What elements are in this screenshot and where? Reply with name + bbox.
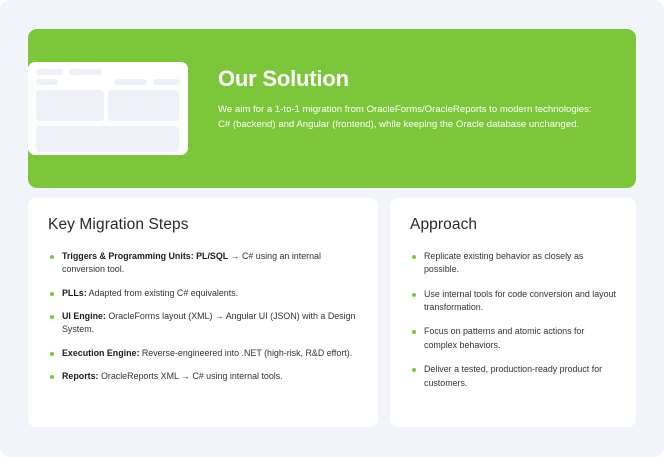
list-item: UI Engine: OracleForms layout (XML) → An… xyxy=(48,310,358,337)
illustration-row-top xyxy=(36,69,180,75)
approach-bullet-list: Replicate existing behavior as closely a… xyxy=(410,250,616,390)
list-item-text: Replicate existing behavior as closely a… xyxy=(424,251,583,274)
list-item-text: OracleForms layout (XML) → Angular UI (J… xyxy=(62,311,355,334)
illustration-bar xyxy=(36,79,58,85)
hero-panel: Our Solution We aim for a 1-to-1 migrati… xyxy=(28,29,636,188)
list-item-label: Reports: xyxy=(62,371,99,381)
illustration-bar xyxy=(114,79,147,85)
list-item: Focus on patterns and atomic actions for… xyxy=(410,325,616,352)
illustration-panel-row-wide xyxy=(36,126,180,152)
list-item-text: OracleReports XML → C# using internal to… xyxy=(99,371,283,381)
wireframe-mockup-illustration xyxy=(28,62,188,155)
steps-bullet-list: Triggers & Programming Units: PL/SQL → C… xyxy=(48,250,358,384)
illustration-row-second xyxy=(36,79,180,85)
approach-card: Approach Replicate existing behavior as … xyxy=(390,198,636,427)
illustration-bar xyxy=(153,79,180,85)
list-item-text: Deliver a tested, production-ready produ… xyxy=(424,364,602,387)
list-item-text: Focus on patterns and atomic actions for… xyxy=(424,326,584,349)
list-item-label: PLLs: xyxy=(62,288,87,298)
list-item: Deliver a tested, production-ready produ… xyxy=(410,363,616,390)
illustration-block xyxy=(36,90,104,121)
page-title: Our Solution xyxy=(218,67,618,91)
list-item: Reports: OracleReports XML → C# using in… xyxy=(48,370,358,383)
list-item-text: Use internal tools for code conversion a… xyxy=(424,289,616,312)
list-item-text: Reverse-engineered into .NET (high-risk,… xyxy=(139,348,352,358)
list-item-text: Adapted from existing C# equivalents. xyxy=(87,288,238,298)
hero-text-group: Our Solution We aim for a 1-to-1 migrati… xyxy=(218,67,618,132)
list-item: Replicate existing behavior as closely a… xyxy=(410,250,616,277)
illustration-bar xyxy=(36,69,63,75)
approach-card-title: Approach xyxy=(410,216,616,234)
list-item: Execution Engine: Reverse-engineered int… xyxy=(48,347,358,360)
illustration-bar xyxy=(69,69,102,75)
list-item: Triggers & Programming Units: PL/SQL → C… xyxy=(48,250,358,277)
list-item-label: Execution Engine: xyxy=(62,348,139,358)
hero-description: We aim for a 1-to-1 migration from Oracl… xyxy=(218,103,596,132)
illustration-panel-row xyxy=(36,90,180,121)
slide-canvas: Our Solution We aim for a 1-to-1 migrati… xyxy=(0,0,664,457)
steps-card-title: Key Migration Steps xyxy=(48,216,358,234)
list-item-label: UI Engine: xyxy=(62,311,106,321)
cards-row: Key Migration Steps Triggers & Programmi… xyxy=(28,198,636,427)
key-migration-steps-card: Key Migration Steps Triggers & Programmi… xyxy=(28,198,378,427)
list-item-label: Triggers & Programming Units: PL/SQL xyxy=(62,251,228,261)
list-item: Use internal tools for code conversion a… xyxy=(410,288,616,315)
illustration-block xyxy=(108,90,179,121)
list-item: PLLs: Adapted from existing C# equivalen… xyxy=(48,287,358,300)
illustration-block xyxy=(36,126,179,152)
